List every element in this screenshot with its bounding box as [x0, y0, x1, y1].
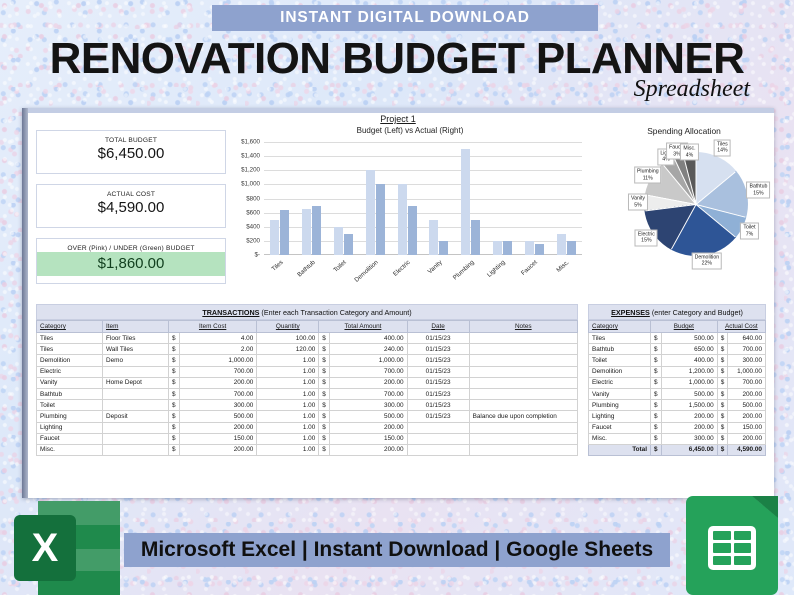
- cell-category[interactable]: Toilet: [37, 400, 103, 411]
- cell-category[interactable]: Vanity: [37, 377, 103, 388]
- pie-callout-percent: 14%: [717, 148, 728, 155]
- cell-category[interactable]: Toilet: [589, 355, 651, 366]
- cell-category[interactable]: Plumbing: [589, 400, 651, 411]
- pie-callout-percent: 5%: [631, 202, 645, 209]
- pie-callout: Vanity5%: [628, 194, 648, 211]
- bar-actual: [535, 244, 544, 255]
- cell-budget[interactable]: 200.00: [661, 411, 717, 422]
- y-axis-tick: $-: [254, 252, 260, 259]
- cell-total[interactable]: 200.00: [329, 422, 407, 433]
- cell-date[interactable]: 01/15/23: [407, 355, 469, 366]
- cell-currency-symbol[interactable]: $: [319, 388, 330, 399]
- cell-currency-symbol[interactable]: $: [651, 333, 662, 344]
- bar-group: Demolition: [359, 142, 391, 255]
- cell-total[interactable]: 700.00: [329, 388, 407, 399]
- total-actual-currency: $: [717, 444, 728, 455]
- cell-budget[interactable]: 300.00: [661, 433, 717, 444]
- cell-actual[interactable]: 500.00: [728, 400, 766, 411]
- kpi-actual-cost: ACTUAL COST $4,590.00: [36, 184, 226, 228]
- cell-cost[interactable]: 500.00: [179, 411, 257, 422]
- cell-currency-symbol[interactable]: $: [717, 344, 728, 355]
- cell-currency-symbol[interactable]: $: [717, 411, 728, 422]
- bar-actual: [408, 206, 417, 255]
- cell-cost[interactable]: 4.00: [179, 333, 257, 344]
- cell-currency-symbol[interactable]: $: [651, 355, 662, 366]
- cell-total[interactable]: 240.00: [329, 344, 407, 355]
- pie-callout-percent: 11%: [637, 175, 659, 182]
- cell-currency-symbol[interactable]: $: [651, 388, 662, 399]
- table-row[interactable]: Bathtub$650.00$700.00: [589, 344, 766, 355]
- cell-currency-symbol[interactable]: $: [169, 411, 180, 422]
- cell-category[interactable]: Tiles: [37, 344, 103, 355]
- cell-budget[interactable]: 1,500.00: [661, 400, 717, 411]
- x-axis-label: Electric: [392, 259, 412, 278]
- bar-budget: [429, 220, 438, 255]
- pie-callout-label: Toilet: [743, 225, 755, 232]
- cell-currency-symbol[interactable]: $: [319, 433, 330, 444]
- cell-category[interactable]: Electric: [37, 366, 103, 377]
- cell-notes[interactable]: [469, 444, 577, 455]
- cell-currency-symbol[interactable]: $: [651, 422, 662, 433]
- cell-notes[interactable]: [469, 388, 577, 399]
- cell-item[interactable]: Floor Tiles: [103, 333, 169, 344]
- pie-callout: Plumbing11%: [634, 167, 662, 184]
- x-axis-label: Toilet: [333, 259, 348, 274]
- x-axis-label: Faucet: [520, 259, 539, 277]
- cell-category[interactable]: Misc.: [589, 433, 651, 444]
- cell-qty[interactable]: 1.00: [257, 388, 319, 399]
- cell-date[interactable]: [407, 433, 469, 444]
- pie-callout-label: Demolition: [695, 254, 720, 261]
- pie-callout-percent: 22%: [695, 261, 720, 268]
- table-row[interactable]: Toilet$400.00$300.00: [589, 355, 766, 366]
- cell-qty[interactable]: 1.00: [257, 422, 319, 433]
- expenses-table: EXPENSES (enter Category and Budget) Cat…: [588, 304, 766, 456]
- kpi-over-under-value: $1,860.00: [37, 252, 225, 276]
- cell-category[interactable]: Electric: [589, 377, 651, 388]
- cell-total[interactable]: 700.00: [329, 366, 407, 377]
- cell-category[interactable]: Lighting: [37, 422, 103, 433]
- cell-notes[interactable]: [469, 355, 577, 366]
- x-axis-label: Lighting: [486, 259, 507, 279]
- bar-budget: [557, 234, 566, 255]
- bar-budget: [270, 220, 279, 255]
- pie-chart-plot-area: Tiles14%Bathtub15%Toilet7%Demolition22%E…: [600, 140, 768, 290]
- x-axis-label: Misc.: [555, 259, 570, 274]
- sheets-icon-table: [708, 526, 756, 570]
- cell-qty[interactable]: 120.00: [257, 344, 319, 355]
- cell-currency-symbol[interactable]: $: [169, 422, 180, 433]
- cell-cost[interactable]: 200.00: [179, 444, 257, 455]
- cell-actual[interactable]: 200.00: [728, 388, 766, 399]
- cell-category[interactable]: Tiles: [589, 333, 651, 344]
- cell-date[interactable]: 01/15/23: [407, 411, 469, 422]
- cell-date[interactable]: 01/15/23: [407, 344, 469, 355]
- cell-currency-symbol[interactable]: $: [169, 366, 180, 377]
- cell-currency-symbol[interactable]: $: [319, 366, 330, 377]
- y-axis-tick: $1,600: [241, 139, 260, 146]
- cell-total[interactable]: 500.00: [329, 411, 407, 422]
- cell-item[interactable]: [103, 400, 169, 411]
- cell-qty[interactable]: 1.00: [257, 400, 319, 411]
- footer-ribbon-text: Microsoft Excel | Instant Download | Goo…: [141, 538, 653, 562]
- cell-total[interactable]: 200.00: [329, 444, 407, 455]
- transactions-banner: TRANSACTIONS (Enter each Transaction Cat…: [36, 304, 578, 320]
- cell-currency-symbol[interactable]: $: [717, 433, 728, 444]
- project-title: Project 1: [22, 114, 774, 124]
- cell-currency-symbol[interactable]: $: [169, 400, 180, 411]
- pie-chart-title: Spending Allocation: [600, 126, 768, 136]
- kpi-actual-cost-label: ACTUAL COST: [37, 185, 225, 198]
- instant-download-text: INSTANT DIGITAL DOWNLOAD: [280, 9, 530, 27]
- sheets-cell: [713, 556, 731, 565]
- expenses-banner-bold: EXPENSES: [611, 308, 650, 317]
- cell-item[interactable]: Deposit: [103, 411, 169, 422]
- cell-item[interactable]: Demo: [103, 355, 169, 366]
- cell-currency-symbol[interactable]: $: [169, 433, 180, 444]
- cell-notes[interactable]: [469, 400, 577, 411]
- pie-callout: Misc.4%: [680, 144, 698, 161]
- cell-date[interactable]: [407, 444, 469, 455]
- cell-item[interactable]: Wall Tiles: [103, 344, 169, 355]
- y-axis-tick: $800: [246, 195, 260, 202]
- bar-actual: [503, 241, 512, 255]
- expenses-header-row: Category Budget Actual Cost: [589, 321, 766, 333]
- cell-total[interactable]: 300.00: [329, 400, 407, 411]
- kpi-actual-cost-value: $4,590.00: [37, 198, 225, 223]
- cell-date[interactable]: [407, 422, 469, 433]
- cell-currency-symbol[interactable]: $: [717, 333, 728, 344]
- cell-category[interactable]: Plumbing: [37, 411, 103, 422]
- bar-group: Lighting: [487, 142, 519, 255]
- cell-item[interactable]: [103, 433, 169, 444]
- cell-currency-symbol[interactable]: $: [651, 377, 662, 388]
- cell-notes[interactable]: [469, 366, 577, 377]
- cell-date[interactable]: 01/15/23: [407, 377, 469, 388]
- th-item-cost: Item Cost: [169, 321, 257, 333]
- bar-budget: [493, 241, 502, 255]
- kpi-total-budget-label: TOTAL BUDGET: [37, 131, 225, 144]
- table-row[interactable]: Misc.$200.001.00$200.00: [37, 444, 578, 455]
- cell-category[interactable]: Tiles: [37, 333, 103, 344]
- table-row[interactable]: Lighting$200.00$200.00: [589, 411, 766, 422]
- pie-separator: [671, 204, 696, 249]
- microsoft-excel-icon: X: [14, 501, 120, 595]
- cell-total[interactable]: 150.00: [329, 433, 407, 444]
- table-row[interactable]: Demolition$1,200.00$1,000.00: [589, 366, 766, 377]
- cell-currency-symbol[interactable]: $: [319, 377, 330, 388]
- cell-cost[interactable]: 300.00: [179, 400, 257, 411]
- x-axis-label: Bathtub: [296, 259, 317, 278]
- cell-date[interactable]: 01/15/23: [407, 400, 469, 411]
- y-axis-tick: $1,000: [241, 181, 260, 188]
- cell-notes[interactable]: [469, 377, 577, 388]
- pie-separator: [696, 154, 697, 205]
- y-axis-tick: $400: [246, 223, 260, 230]
- cell-currency-symbol[interactable]: $: [651, 344, 662, 355]
- expenses-banner-rest: (enter Category and Budget): [650, 308, 743, 317]
- pie-callout-label: Electric: [638, 231, 655, 238]
- cell-currency-symbol[interactable]: $: [169, 388, 180, 399]
- total-budget-value: 6,450.00: [661, 444, 717, 455]
- cell-notes[interactable]: [469, 433, 577, 444]
- cell-qty[interactable]: 1.00: [257, 411, 319, 422]
- pie-callout-label: Vanity: [631, 196, 645, 203]
- cell-item[interactable]: [103, 422, 169, 433]
- th-exp-category: Category: [589, 321, 651, 333]
- cell-currency-symbol[interactable]: $: [717, 377, 728, 388]
- cell-item[interactable]: Home Depot: [103, 377, 169, 388]
- cell-cost[interactable]: 200.00: [179, 422, 257, 433]
- cell-currency-symbol[interactable]: $: [169, 333, 180, 344]
- cell-currency-symbol[interactable]: $: [651, 433, 662, 444]
- table-row[interactable]: Tiles$500.00$640.00: [589, 333, 766, 344]
- x-axis-label: Plumbing: [452, 259, 476, 281]
- cell-currency-symbol[interactable]: $: [169, 355, 180, 366]
- table-row[interactable]: TilesFloor Tiles$4.00100.00$400.0001/15/…: [37, 333, 578, 344]
- cell-notes[interactable]: [469, 344, 577, 355]
- cell-category[interactable]: Lighting: [589, 411, 651, 422]
- cell-budget[interactable]: 650.00: [661, 344, 717, 355]
- sheet-left-gutter: [22, 108, 28, 498]
- transactions-banner-rest: (Enter each Transaction Category and Amo…: [259, 308, 411, 317]
- cell-currency-symbol[interactable]: $: [319, 400, 330, 411]
- table-row[interactable]: VanityHome Depot$200.001.00$200.0001/15/…: [37, 377, 578, 388]
- cell-currency-symbol[interactable]: $: [169, 444, 180, 455]
- cell-budget[interactable]: 500.00: [661, 388, 717, 399]
- cell-currency-symbol[interactable]: $: [651, 366, 662, 377]
- cell-item[interactable]: [103, 388, 169, 399]
- cell-notes[interactable]: Balance due upon completion: [469, 411, 577, 422]
- y-axis-tick: $200: [246, 237, 260, 244]
- cell-item[interactable]: [103, 444, 169, 455]
- pie-callout: Demolition22%: [692, 252, 723, 269]
- pie-callout-percent: 4%: [683, 152, 695, 159]
- th-exp-actual: Actual Cost: [717, 321, 765, 333]
- table-row[interactable]: Misc.$300.00$200.00: [589, 433, 766, 444]
- bar-actual: [280, 210, 289, 255]
- bar-group: Tiles: [264, 142, 296, 255]
- table-row[interactable]: Plumbing$1,500.00$500.00: [589, 400, 766, 411]
- th-date: Date: [407, 321, 469, 333]
- sheets-cell: [713, 531, 731, 540]
- bar-actual: [344, 234, 353, 255]
- cell-currency-symbol[interactable]: $: [319, 355, 330, 366]
- th-total-amount: Total Amount: [319, 321, 407, 333]
- cell-total[interactable]: 200.00: [329, 377, 407, 388]
- cell-date[interactable]: 01/15/23: [407, 388, 469, 399]
- bar-group: Vanity: [423, 142, 455, 255]
- bar-budget: [366, 170, 375, 255]
- bar-chart-plot-area: $-$200$400$600$800$1,000$1,200$1,400$1,6…: [264, 142, 582, 255]
- cell-date[interactable]: 01/15/23: [407, 366, 469, 377]
- table-row[interactable]: Electric$700.001.00$700.0001/15/23: [37, 366, 578, 377]
- cell-item[interactable]: [103, 366, 169, 377]
- cell-category[interactable]: Faucet: [37, 433, 103, 444]
- y-axis-tick: $1,200: [241, 167, 260, 174]
- kpi-over-under-label: OVER (Pink) / UNDER (Green) BUDGET: [37, 239, 225, 252]
- cell-budget[interactable]: 500.00: [661, 333, 717, 344]
- table-row[interactable]: Bathtub$700.001.00$700.0001/15/23: [37, 388, 578, 399]
- bar-budget: [302, 209, 311, 255]
- cell-qty[interactable]: 1.00: [257, 444, 319, 455]
- expenses-banner: EXPENSES (enter Category and Budget): [588, 304, 766, 320]
- cell-category[interactable]: Faucet: [589, 422, 651, 433]
- cell-cost[interactable]: 1,000.00: [179, 355, 257, 366]
- x-axis-label: Vanity: [426, 259, 443, 275]
- cell-budget[interactable]: 400.00: [661, 355, 717, 366]
- cell-actual[interactable]: 700.00: [728, 377, 766, 388]
- sheet-top-band: [22, 108, 774, 113]
- total-budget-currency: $: [651, 444, 662, 455]
- cell-category[interactable]: Misc.: [37, 444, 103, 455]
- cell-notes[interactable]: [469, 333, 577, 344]
- pie-callout: Bathtub15%: [747, 182, 771, 199]
- cell-category[interactable]: Bathtub: [37, 388, 103, 399]
- cell-cost[interactable]: 700.00: [179, 366, 257, 377]
- x-axis-label: Demolition: [354, 259, 380, 284]
- sheets-cell: [734, 543, 752, 552]
- cell-actual[interactable]: 1,000.00: [728, 366, 766, 377]
- table-row[interactable]: Toilet$300.001.00$300.0001/15/23: [37, 400, 578, 411]
- pie-separator: [645, 204, 696, 211]
- kpi-over-under-budget: OVER (Pink) / UNDER (Green) BUDGET $1,86…: [36, 238, 226, 284]
- table-row[interactable]: PlumbingDeposit$500.001.00$500.0001/15/2…: [37, 411, 578, 422]
- y-axis-tick: $600: [246, 209, 260, 216]
- cell-total[interactable]: 1,000.00: [329, 355, 407, 366]
- cell-actual[interactable]: 150.00: [728, 422, 766, 433]
- cell-currency-symbol[interactable]: $: [651, 411, 662, 422]
- cell-actual[interactable]: 640.00: [728, 333, 766, 344]
- cell-qty[interactable]: 100.00: [257, 333, 319, 344]
- bar-actual: [567, 241, 576, 255]
- cell-currency-symbol[interactable]: $: [319, 333, 330, 344]
- expenses-grid: Category Budget Actual Cost Tiles$500.00…: [588, 320, 766, 456]
- cell-category[interactable]: Demolition: [589, 366, 651, 377]
- cell-currency-symbol[interactable]: $: [717, 388, 728, 399]
- bar-group: Misc.: [550, 142, 582, 255]
- transactions-body: TilesFloor Tiles$4.00100.00$400.0001/15/…: [37, 333, 578, 456]
- pie-callout-label: Misc.: [683, 146, 695, 153]
- cell-currency-symbol[interactable]: $: [717, 366, 728, 377]
- table-row[interactable]: Electric$1,000.00$700.00: [589, 377, 766, 388]
- cell-currency-symbol[interactable]: $: [169, 344, 180, 355]
- cell-total[interactable]: 400.00: [329, 333, 407, 344]
- budget-vs-actual-bar-chart: Budget (Left) vs Actual (Right) $-$200$4…: [230, 126, 590, 301]
- table-row[interactable]: Faucet$200.00$150.00: [589, 422, 766, 433]
- cell-currency-symbol[interactable]: $: [717, 355, 728, 366]
- cell-actual[interactable]: 300.00: [728, 355, 766, 366]
- cell-currency-symbol[interactable]: $: [319, 444, 330, 455]
- transactions-table: TRANSACTIONS (Enter each Transaction Cat…: [36, 304, 578, 456]
- cell-actual[interactable]: 200.00: [728, 433, 766, 444]
- cell-currency-symbol[interactable]: $: [319, 422, 330, 433]
- bar-chart-title: Budget (Left) vs Actual (Right): [230, 126, 590, 135]
- instant-download-ribbon: INSTANT DIGITAL DOWNLOAD: [212, 5, 598, 31]
- cell-currency-symbol[interactable]: $: [169, 377, 180, 388]
- cell-date[interactable]: 01/15/23: [407, 333, 469, 344]
- sheets-cell: [734, 556, 752, 565]
- pie-callout-label: Plumbing: [637, 169, 659, 176]
- cell-category[interactable]: Vanity: [589, 388, 651, 399]
- y-axis-tick: $1,400: [241, 153, 260, 160]
- cell-currency-symbol[interactable]: $: [319, 344, 330, 355]
- th-item: Item: [103, 321, 169, 333]
- table-row[interactable]: Faucet$150.001.00$150.00: [37, 433, 578, 444]
- th-notes: Notes: [469, 321, 577, 333]
- bar-group: Electric: [391, 142, 423, 255]
- pie-callout-percent: 15%: [638, 238, 655, 245]
- x-axis-label: Tiles: [270, 259, 284, 273]
- pie-callout: Electric15%: [635, 229, 658, 246]
- sheets-cell: [734, 531, 752, 540]
- bar-actual: [439, 241, 448, 255]
- kpi-total-budget-value: $6,450.00: [37, 144, 225, 169]
- cell-notes[interactable]: [469, 422, 577, 433]
- table-row[interactable]: Vanity$500.00$200.00: [589, 388, 766, 399]
- cell-currency-symbol[interactable]: $: [651, 400, 662, 411]
- transactions-banner-bold: TRANSACTIONS: [202, 308, 259, 317]
- cell-cost[interactable]: 700.00: [179, 388, 257, 399]
- bar-budget: [525, 241, 534, 255]
- table-row[interactable]: DemolitionDemo$1,000.001.00$1,000.0001/1…: [37, 355, 578, 366]
- th-exp-budget: Budget: [651, 321, 718, 333]
- cell-currency-symbol[interactable]: $: [319, 411, 330, 422]
- cell-cost[interactable]: 150.00: [179, 433, 257, 444]
- total-actual-value: 4,590.00: [728, 444, 766, 455]
- transactions-grid: Category Item Item Cost Quantity Total A…: [36, 320, 578, 456]
- bar-budget: [461, 149, 470, 255]
- pie-callout-label: Bathtub: [750, 184, 768, 191]
- cell-budget[interactable]: 1,200.00: [661, 366, 717, 377]
- spreadsheet-screenshot: Project 1 TOTAL BUDGET $6,450.00 ACTUAL …: [22, 108, 774, 498]
- bar-group: Toilet: [328, 142, 360, 255]
- bar-actual: [376, 184, 385, 255]
- bar-group: Faucet: [518, 142, 550, 255]
- cell-qty[interactable]: 1.00: [257, 377, 319, 388]
- spending-allocation-pie-chart: Spending Allocation Tiles14%Bathtub15%To…: [600, 126, 768, 301]
- cell-actual[interactable]: 700.00: [728, 344, 766, 355]
- expenses-body: Tiles$500.00$640.00Bathtub$650.00$700.00…: [589, 333, 766, 456]
- page-subtitle: Spreadsheet: [634, 76, 750, 103]
- cell-budget[interactable]: 200.00: [661, 422, 717, 433]
- pie-callout: Toilet7%: [740, 223, 758, 240]
- bar-group: Bathtub: [296, 142, 328, 255]
- cell-cost[interactable]: 200.00: [179, 377, 257, 388]
- cell-currency-symbol[interactable]: $: [717, 422, 728, 433]
- cell-category[interactable]: Demolition: [37, 355, 103, 366]
- expenses-total-row: Total$6,450.00$4,590.00: [589, 444, 766, 455]
- cell-qty[interactable]: 1.00: [257, 355, 319, 366]
- cell-currency-symbol[interactable]: $: [717, 400, 728, 411]
- kpi-total-budget: TOTAL BUDGET $6,450.00: [36, 130, 226, 174]
- transactions-header-row: Category Item Item Cost Quantity Total A…: [37, 321, 578, 333]
- sheets-cell: [713, 543, 731, 552]
- cell-qty[interactable]: 1.00: [257, 433, 319, 444]
- cell-category[interactable]: Bathtub: [589, 344, 651, 355]
- cell-qty[interactable]: 1.00: [257, 366, 319, 377]
- th-category: Category: [37, 321, 103, 333]
- pie-callout-percent: 15%: [750, 190, 768, 197]
- cell-actual[interactable]: 200.00: [728, 411, 766, 422]
- bar-group: Plumbing: [455, 142, 487, 255]
- table-row[interactable]: TilesWall Tiles$2.00120.00$240.0001/15/2…: [37, 344, 578, 355]
- google-sheets-icon: [686, 496, 778, 595]
- th-quantity: Quantity: [257, 321, 319, 333]
- table-row[interactable]: Lighting$200.001.00$200.00: [37, 422, 578, 433]
- cell-budget[interactable]: 1,000.00: [661, 377, 717, 388]
- cell-cost[interactable]: 2.00: [179, 344, 257, 355]
